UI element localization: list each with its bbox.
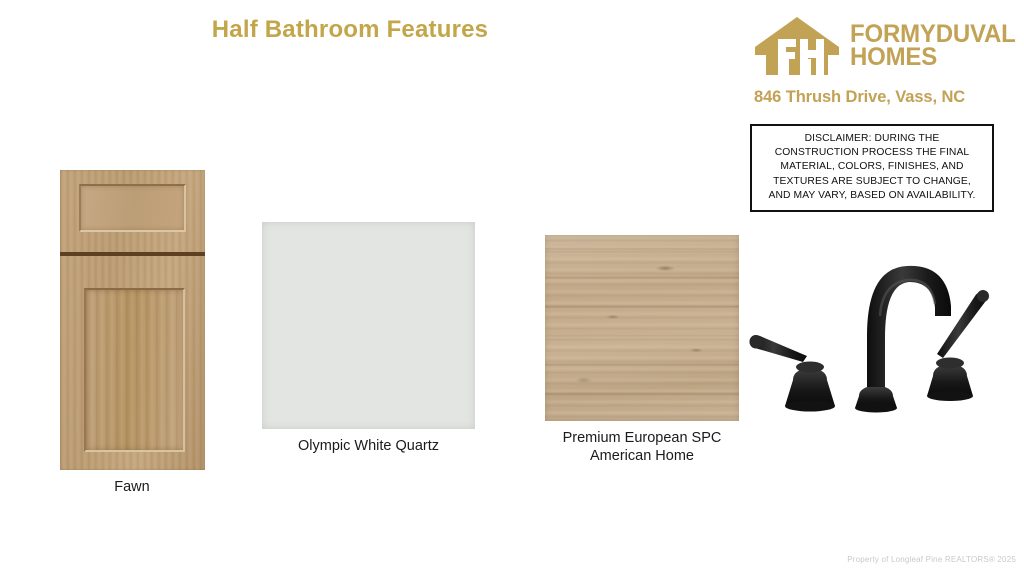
disclaimer-line: MATERIAL, COLORS, FINISHES, AND (756, 160, 988, 174)
disclaimer-line: DISCLAIMER: DURING THE (756, 132, 988, 146)
house-fh-monogram-icon (754, 15, 840, 77)
brand-wordmark: FORMYDUVAL HOMES (850, 23, 1016, 70)
disclaimer-line: AND MAY VARY, BASED ON AVAILABILITY. (756, 189, 988, 203)
sample-cabinet: Fawn (34, 170, 230, 497)
cabinet-door-swatch (60, 170, 205, 470)
cabinet-drawer-panel (79, 184, 186, 232)
disclaimer-line: CONSTRUCTION PROCESS THE FINAL (756, 146, 988, 160)
caption-line: Fawn (34, 479, 230, 497)
sample-countertop: Olympic White Quartz (246, 222, 491, 456)
sample-caption-flooring: Premium European SPC American Home (522, 430, 762, 465)
cabinet-door-panel (84, 288, 185, 452)
brand-lockup: FORMYDUVAL HOMES (754, 14, 1012, 78)
sample-flooring: Premium European SPC American Home (522, 235, 762, 465)
spc-flooring-swatch (545, 235, 739, 421)
sample-caption-cabinet: Fawn (34, 479, 230, 497)
brand-name-line1: FORMYDUVAL (850, 23, 1016, 47)
brand-block: FORMYDUVAL HOMES 846 Thrush Drive, Vass,… (754, 14, 1012, 107)
sample-faucet (742, 244, 1004, 424)
cabinet-door-front (60, 260, 205, 470)
footer-credit: Property of Longleaf Pine REALTORS® 2025 (847, 555, 1016, 564)
caption-line: Olympic White Quartz (246, 438, 491, 456)
cabinet-drawer-front (60, 170, 205, 256)
brand-address: 846 Thrush Drive, Vass, NC (754, 88, 1012, 107)
caption-line: American Home (522, 448, 762, 466)
disclaimer-line: TEXTURES ARE SUBJECT TO CHANGE, (756, 175, 988, 189)
sample-caption-countertop: Olympic White Quartz (246, 438, 491, 456)
caption-line: Premium European SPC (522, 430, 762, 448)
matte-black-faucet-image (742, 244, 1004, 424)
page-title: Half Bathroom Features (0, 16, 700, 44)
quartz-swatch (262, 222, 475, 429)
disclaimer-box: DISCLAIMER: DURING THE CONSTRUCTION PROC… (750, 124, 994, 212)
brand-name-line2: HOMES (850, 46, 1016, 70)
